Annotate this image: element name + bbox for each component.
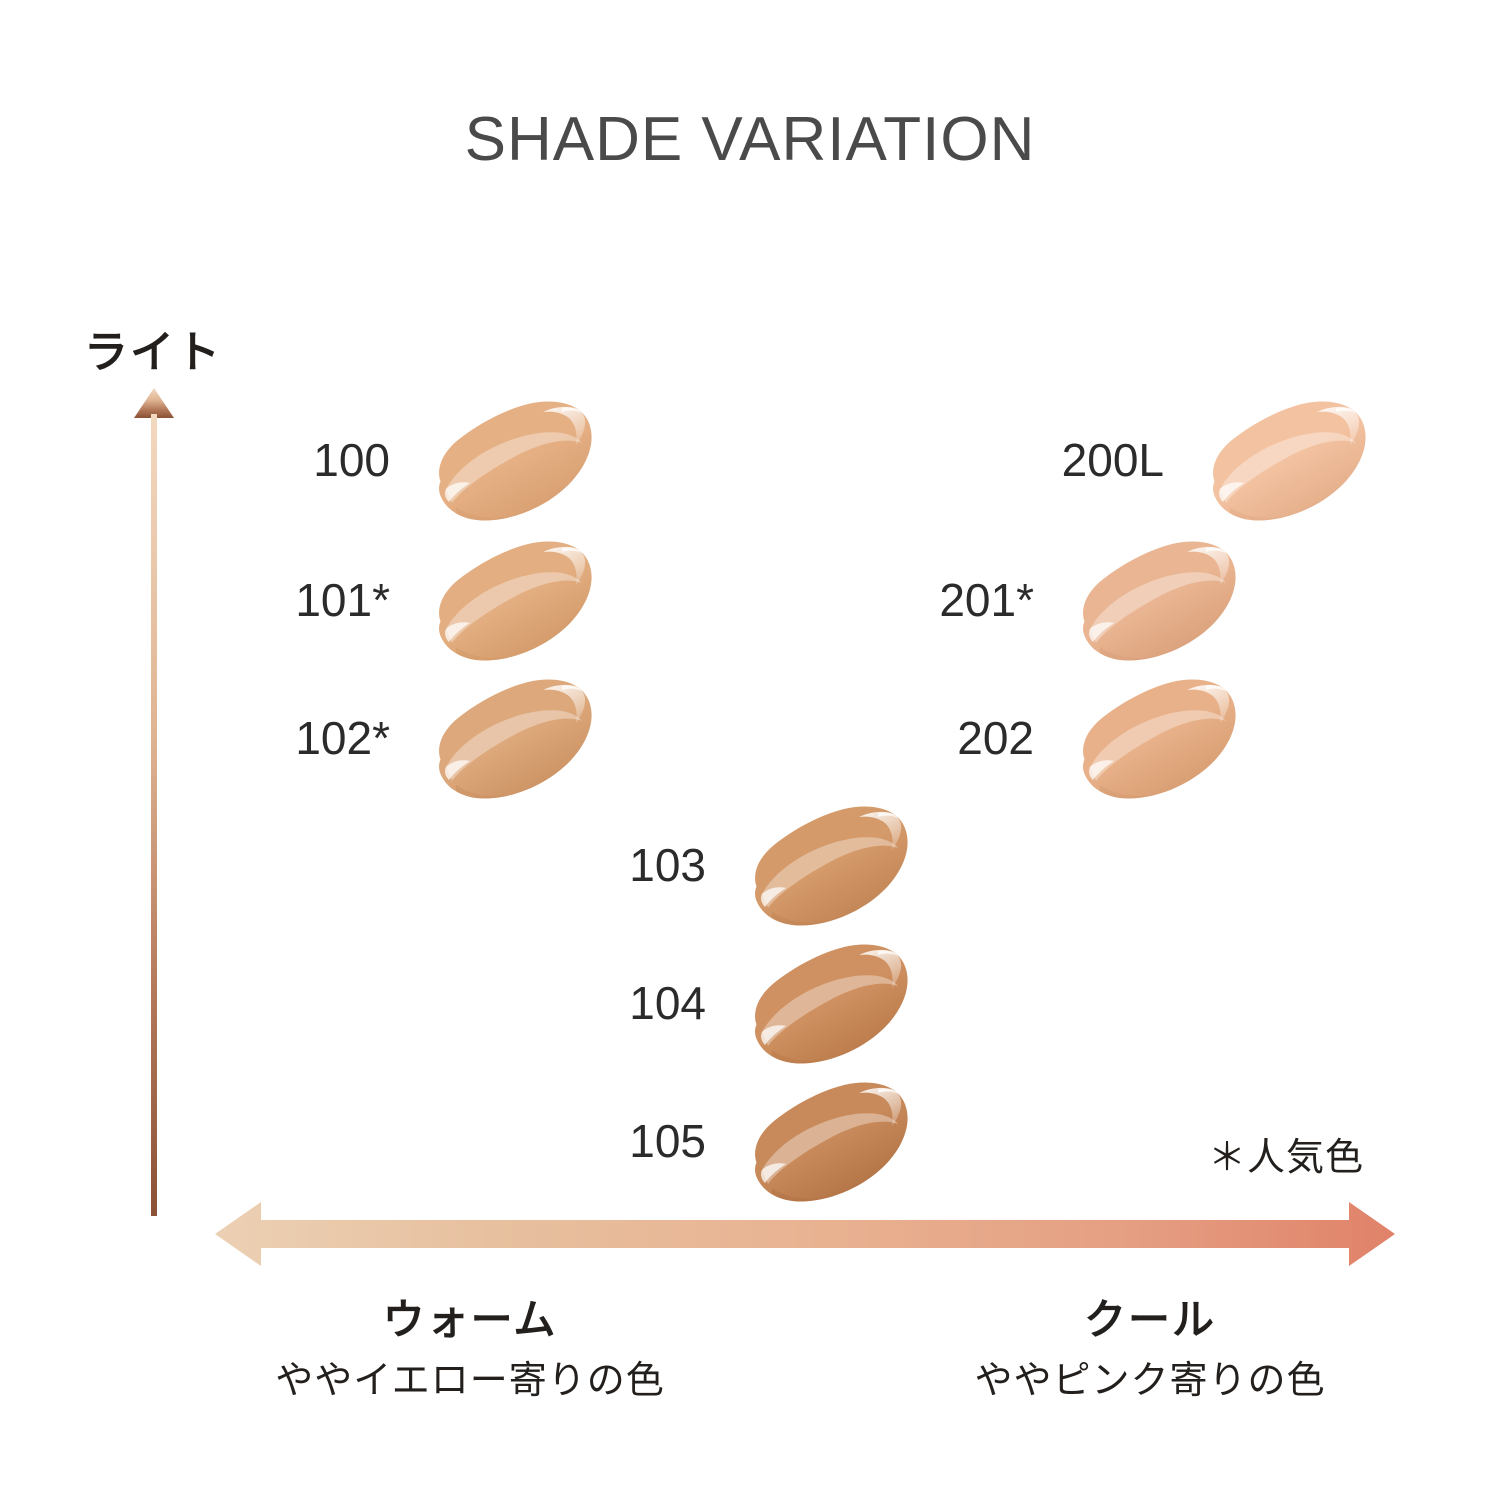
shade-label: 103 — [578, 838, 728, 892]
foundation-blob-icon — [1056, 663, 1242, 813]
shade-label: 200L — [1036, 433, 1186, 487]
shade-swatch-item[interactable]: 200L — [1036, 385, 1372, 535]
axis-caption-cool-title: クール — [840, 1296, 1460, 1344]
foundation-blob-icon — [1186, 385, 1372, 535]
shade-label: 104 — [578, 976, 728, 1030]
shade-swatch-item[interactable]: 100 — [262, 385, 598, 535]
shade-swatch-item[interactable]: 202 — [906, 663, 1242, 813]
shade-swatch-item[interactable]: 105 — [578, 1066, 914, 1216]
legend-popular-note: ＊人気色 — [1208, 1126, 1364, 1181]
foundation-blob-icon — [1056, 525, 1242, 675]
foundation-blob-icon — [412, 385, 598, 535]
shade-label: 101* — [262, 573, 412, 627]
foundation-blob-icon — [728, 928, 914, 1078]
axis-caption-cool: クール ややピンク寄りの色 — [840, 1296, 1460, 1406]
shade-label: 102* — [262, 711, 412, 765]
axis-caption-warm-title: ウォーム — [160, 1296, 780, 1344]
shade-label: 202 — [906, 711, 1056, 765]
shade-swatch-item[interactable]: 104 — [578, 928, 914, 1078]
shade-variation-chart: SHADE VARIATION ライト — [0, 0, 1500, 1500]
foundation-blob-icon — [728, 790, 914, 940]
axis-caption-warm-subtitle: ややイエロー寄りの色 — [160, 1358, 780, 1406]
foundation-blob-icon — [728, 1066, 914, 1216]
foundation-blob-icon — [412, 663, 598, 813]
shade-label: 100 — [262, 433, 412, 487]
y-axis-arrow-icon — [130, 388, 178, 1216]
shade-label: 201* — [906, 573, 1056, 627]
shade-swatch-item[interactable]: 101* — [262, 525, 598, 675]
axis-caption-cool-subtitle: ややピンク寄りの色 — [840, 1358, 1460, 1406]
shade-swatch-item[interactable]: 102* — [262, 663, 598, 813]
shade-swatch-item[interactable]: 103 — [578, 790, 914, 940]
axis-caption-warm: ウォーム ややイエロー寄りの色 — [160, 1296, 780, 1406]
y-axis-label: ライト — [84, 316, 222, 380]
shade-swatch-item[interactable]: 201* — [906, 525, 1242, 675]
shade-label: 105 — [578, 1114, 728, 1168]
page-title: SHADE VARIATION — [0, 104, 1500, 175]
foundation-blob-icon — [412, 525, 598, 675]
